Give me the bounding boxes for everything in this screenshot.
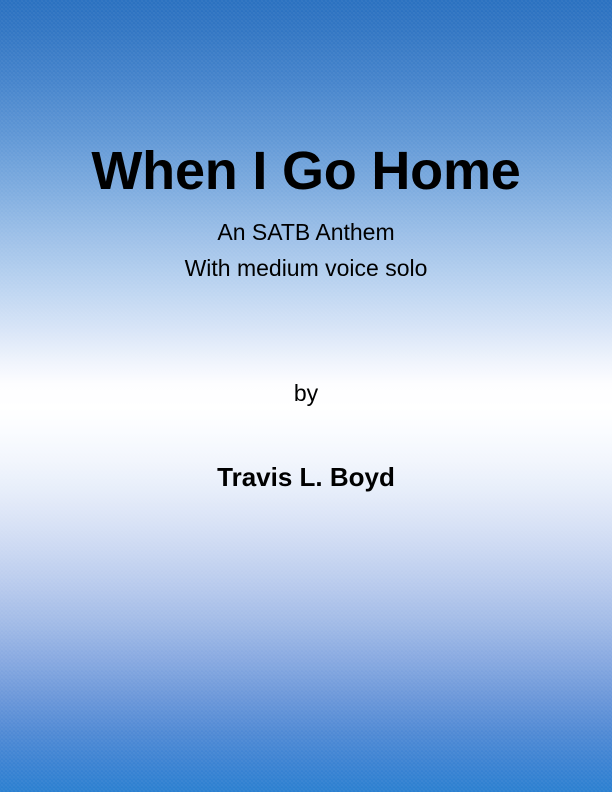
page-title: When I Go Home [0,140,612,202]
byline-label: by [0,379,612,407]
cover-page: When I Go Home An SATB Anthem With mediu… [0,0,612,792]
subtitle-line-1: An SATB Anthem [0,218,612,246]
composer-name: Travis L. Boyd [0,461,612,493]
subtitle-line-2: With medium voice solo [0,254,612,282]
cover-text-block: When I Go Home An SATB Anthem With mediu… [0,0,612,792]
